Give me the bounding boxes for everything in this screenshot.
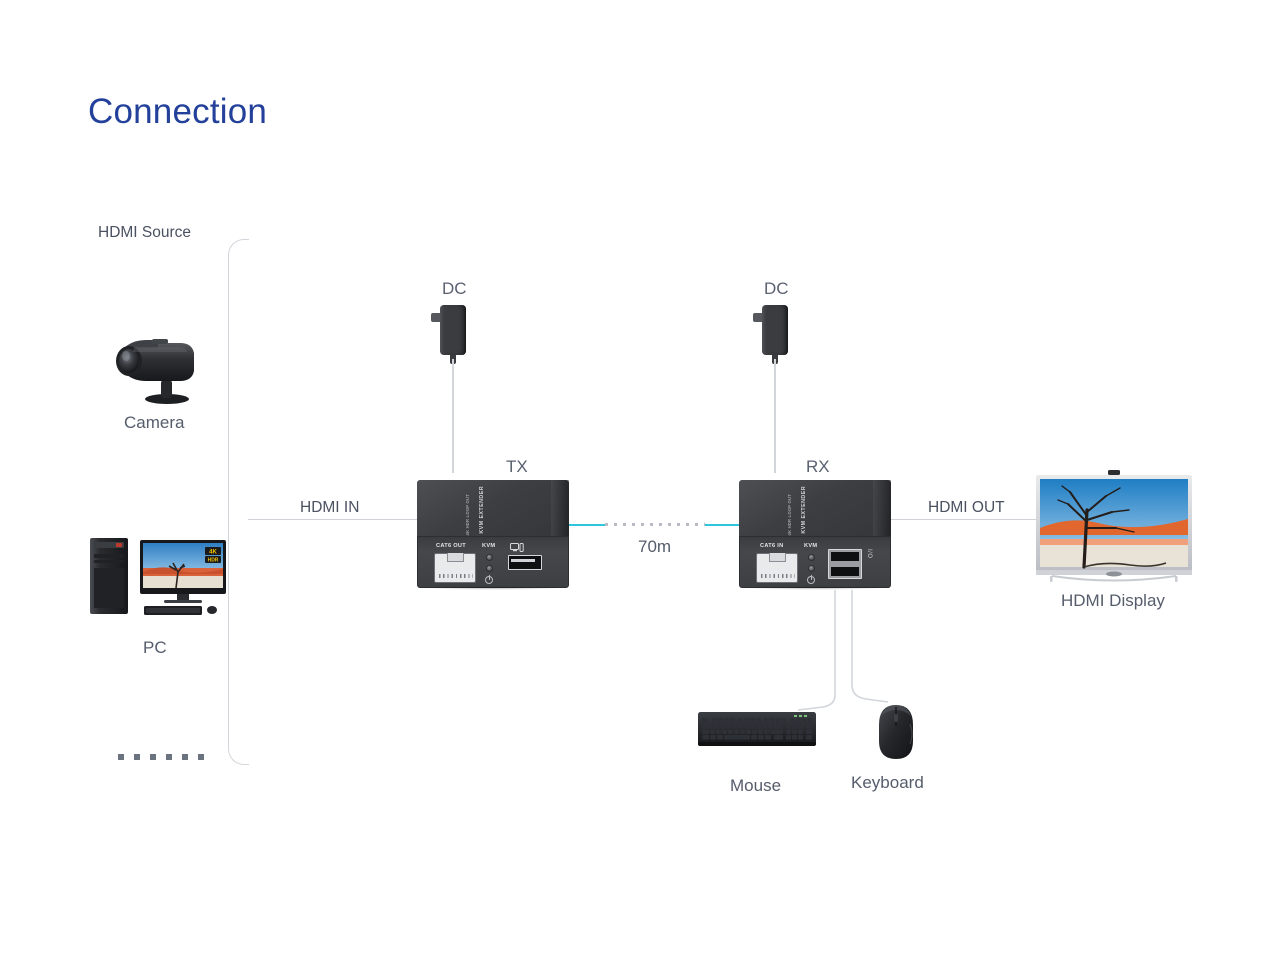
rx-usb-dual-port[interactable] — [828, 549, 862, 579]
rx-dc-label: DC — [764, 279, 789, 299]
page-title: Connection — [88, 92, 267, 132]
diagram-canvas: Connection HDMI Source — [0, 0, 1280, 966]
svg-text:4K: 4K — [209, 550, 217, 556]
mouse-device — [876, 704, 916, 762]
tx-kvm-label: KVM — [482, 543, 495, 549]
rx-brand-sub: 4K HDR LOOP OUT — [787, 494, 792, 536]
tx-cat6-out-label: CAT6 OUT — [436, 543, 466, 549]
hdmi-in-line — [248, 519, 418, 520]
tx-usb-port[interactable] — [508, 555, 542, 570]
rx-kvm-label: KVM — [804, 543, 817, 549]
tx-rj45-port[interactable] — [434, 553, 476, 583]
hdmi-in-label: HDMI IN — [300, 499, 359, 517]
camera-device — [104, 336, 214, 406]
keyboard-label: Mouse — [730, 776, 781, 796]
tx-dc-wire — [452, 359, 454, 473]
tx-device: 4K HDR LOOP OUT HDMI KVM EXTENDER CAT6 O… — [417, 480, 569, 588]
rx-power-icon — [807, 576, 815, 584]
svg-text:HDR: HDR — [208, 558, 219, 564]
tx-device-shadow — [421, 586, 565, 590]
cat6-cable-left — [569, 524, 605, 526]
tx-led-2 — [486, 565, 493, 572]
hdmi-out-line — [891, 519, 1036, 520]
tx-device-top — [417, 480, 569, 540]
hdmi-display-device — [1034, 470, 1194, 590]
tx-dc-label: DC — [442, 279, 467, 299]
cat6-cable-dotted — [605, 523, 705, 526]
rx-label: RX — [806, 457, 830, 477]
rx-cat6-in-label: CAT6 IN — [760, 543, 783, 549]
rx-io-label: I/O — [866, 549, 872, 559]
rx-device: 4K HDR LOOP OUT HDMI KVM EXTENDER CAT6 I… — [739, 480, 891, 588]
pc-label: PC — [143, 638, 167, 658]
keyboard-device — [698, 712, 816, 750]
hdmi-display-label: HDMI Display — [1061, 591, 1165, 611]
tx-device-face: CAT6 OUT KVM — [417, 536, 569, 588]
rx-rj45-port[interactable] — [756, 553, 798, 583]
rx-led-1 — [808, 554, 815, 561]
rx-device-face: CAT6 IN KVM I/O — [739, 536, 891, 588]
tx-power-icon — [485, 576, 493, 584]
mouse-label: Keyboard — [851, 773, 924, 793]
source-bracket — [228, 239, 249, 765]
rx-dc-wire — [774, 359, 776, 473]
hdmi-source-label: HDMI Source — [98, 224, 191, 242]
cat6-cable-right — [705, 524, 741, 526]
rx-device-top — [739, 480, 891, 540]
hdmi-out-label: HDMI OUT — [928, 499, 1005, 517]
rx-led-2 — [808, 565, 815, 572]
pc-device: 4K HDR — [88, 532, 228, 620]
tx-brand-sub: 4K HDR LOOP OUT — [465, 494, 470, 536]
cat6-distance-label: 70m — [638, 537, 671, 557]
camera-label: Camera — [124, 413, 184, 433]
tx-label: TX — [506, 457, 528, 477]
tx-led-1 — [486, 554, 493, 561]
tx-pc-icon — [510, 543, 524, 552]
more-sources-dots — [118, 754, 204, 760]
